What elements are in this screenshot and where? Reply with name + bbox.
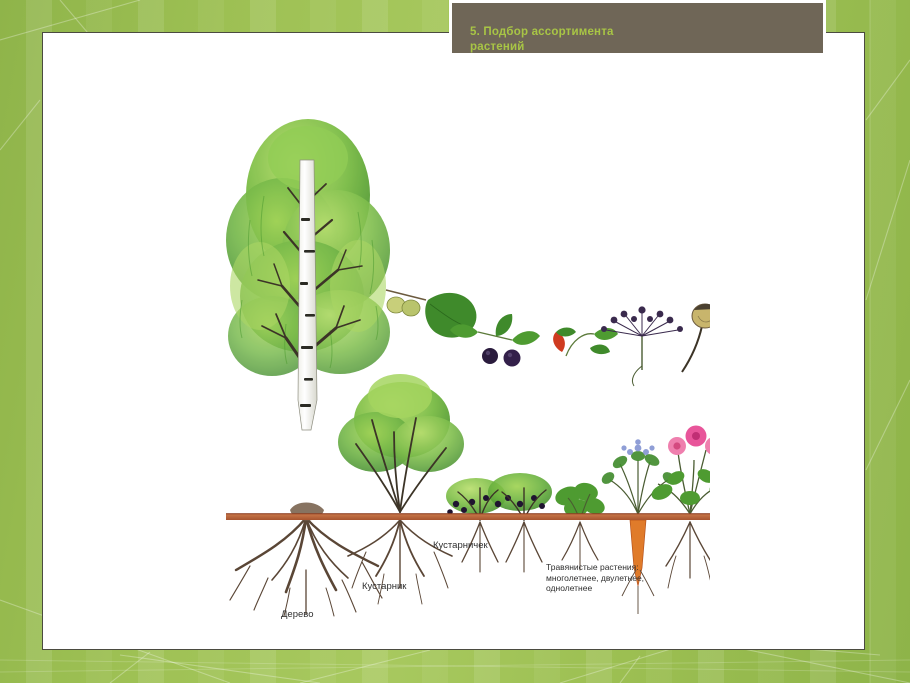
- ground-line: [226, 513, 710, 520]
- figure-label-shrub: Кустарник: [362, 581, 406, 592]
- strawberry-sprig: [553, 328, 618, 357]
- pink-flowers: [668, 426, 710, 456]
- annual-flowering-herb: [649, 426, 710, 589]
- slide-section-banner-inner: 5. Подбор ассортимента растений: [452, 3, 823, 53]
- umbel-sprig: [601, 306, 683, 386]
- figure-label-tree: Дерево: [281, 609, 314, 620]
- figure-label-herbs: Травянистые растения: многолетнее, двуле…: [546, 562, 644, 594]
- section-title: 5. Подбор ассортимента растений: [470, 25, 823, 55]
- slide-section-banner: 5. Подбор ассортимента растений: [449, 0, 826, 56]
- figure-label-dwarf-shrub: Кустарничек: [433, 540, 488, 551]
- seed-capsule-sprig: [682, 304, 710, 372]
- slide-root: 5. Подбор ассортимента растений Жизненны…: [0, 0, 910, 683]
- tree-figure: [226, 119, 390, 616]
- perennial-herb: [553, 481, 607, 570]
